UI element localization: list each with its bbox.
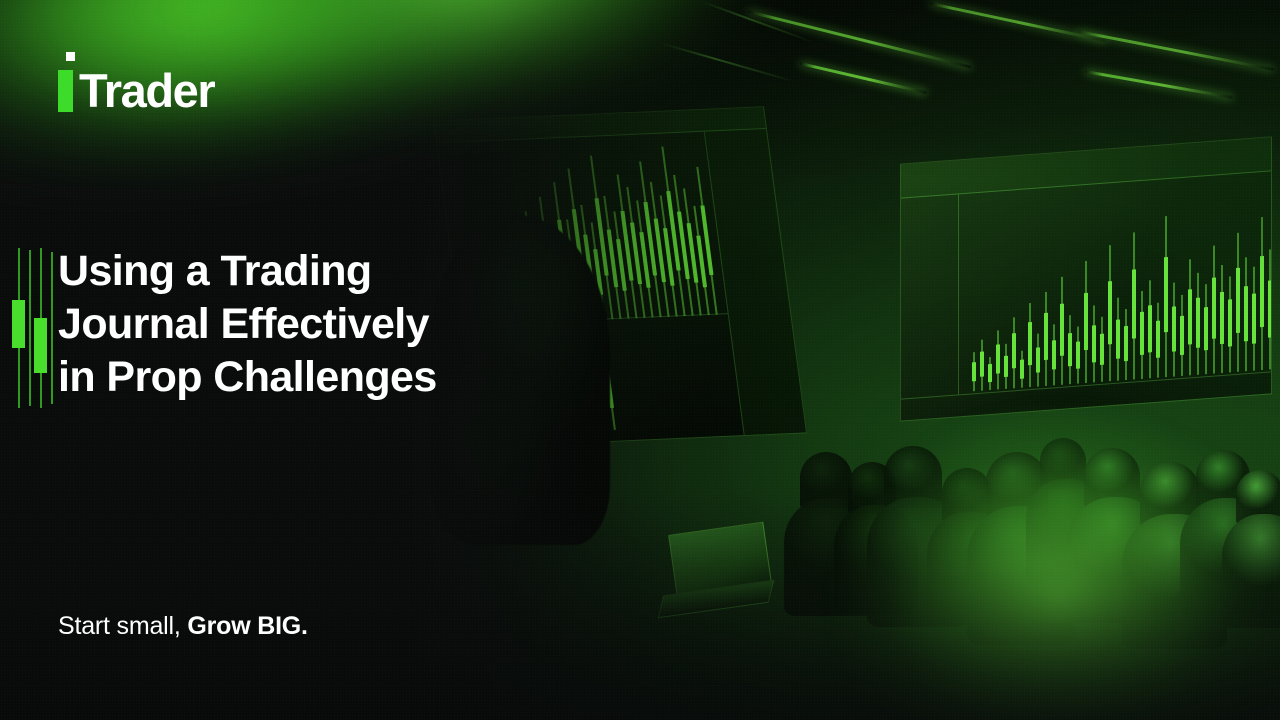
logo-wordmark: Trader	[79, 70, 214, 112]
headline-line-3: in Prop Challenges	[58, 351, 618, 404]
accent-candle-body-3	[34, 318, 47, 373]
tagline-bold: Grow BIG.	[187, 612, 307, 640]
brand-tagline: Start small, Grow BIG.	[58, 612, 308, 641]
tagline-regular: Start small,	[58, 612, 187, 640]
candlestick-accent	[8, 248, 56, 408]
promo-banner: Trader Using a Trading Journal Effective…	[0, 0, 1280, 720]
page-title: Using a Trading Journal Effectively in P…	[58, 245, 618, 404]
accent-candle-wick-2	[29, 250, 31, 406]
accent-candle-body-1	[12, 300, 25, 348]
banner-content: Trader Using a Trading Journal Effective…	[0, 0, 1280, 720]
headline-line-2: Journal Effectively	[58, 298, 618, 351]
itrader-logo[interactable]: Trader	[58, 62, 214, 112]
logo-dot-icon	[66, 52, 75, 61]
accent-candle-wick-4	[51, 252, 53, 404]
headline-line-1: Using a Trading	[58, 245, 618, 298]
logo-i-bar	[58, 70, 73, 112]
